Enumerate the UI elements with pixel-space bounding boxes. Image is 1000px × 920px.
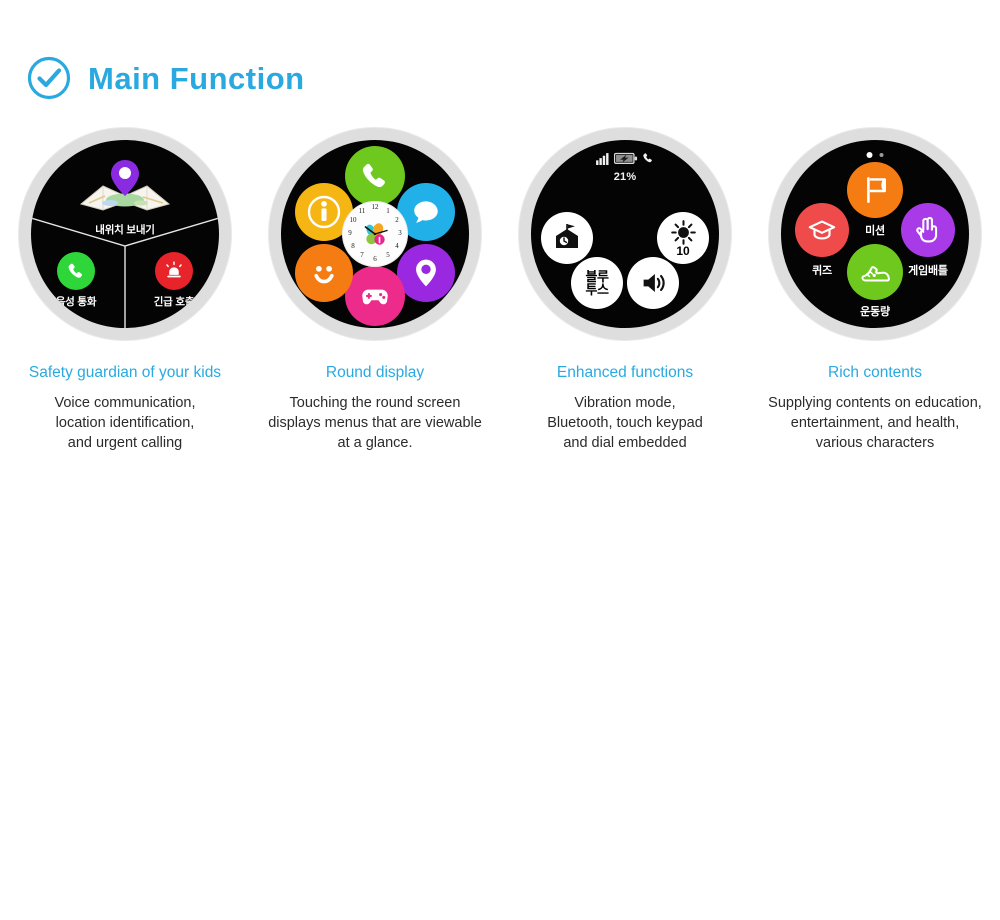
feature-card-enhanced: 21% [500, 128, 750, 453]
watch-enhanced: 21% [519, 128, 731, 340]
caption-body-safety: Voice communication, location identifica… [3, 393, 247, 453]
clock-number-12: 12 [370, 204, 380, 211]
page-title: Main Function [88, 63, 305, 94]
content-label-exercise: 운동량 [860, 303, 890, 319]
toggle-school-mode[interactable] [541, 212, 593, 264]
clock-number-6: 6 [370, 256, 380, 263]
page-indicator[interactable] [867, 152, 884, 158]
signal-bars-icon [596, 152, 611, 170]
toggle-brightness[interactable]: 10 [657, 212, 709, 264]
caption-title-rich-contents: Rich contents [828, 364, 922, 383]
caption-title-enhanced: Enhanced functions [557, 364, 693, 383]
content-label-quiz: 퀴즈 [812, 262, 832, 278]
status-icons-row [596, 156, 655, 170]
clock-number-2: 2 [392, 217, 402, 224]
app-icon-voice-call[interactable] [57, 252, 95, 290]
watch-face-segmented: 내위치 보내기 음성 통화 [31, 140, 219, 328]
app-icon-mission[interactable] [847, 162, 903, 218]
caption-body-enhanced: Vibration mode, Bluetooth, touch keypad … [503, 393, 747, 453]
feature-card-rich-contents: 미션 퀴즈 [750, 128, 1000, 453]
watch-face-content-ring: 미션 퀴즈 [781, 140, 969, 328]
clock-number-7: 7 [357, 252, 367, 259]
watch-face-icon-ring: 12 1 2 3 4 5 6 7 8 9 10 11 [281, 140, 469, 328]
app-icon-exercise[interactable] [847, 244, 903, 300]
caption-title-round-display: Round display [326, 364, 424, 383]
bluetooth-label: 블루 투스 [585, 270, 608, 297]
segment-label-emergency: 긴급 호출 [154, 294, 195, 309]
brightness-level: 10 [676, 244, 689, 258]
app-icon-games[interactable] [345, 266, 405, 326]
app-icon-quiz[interactable] [795, 203, 849, 257]
segment-label-voice-call: 음성 통화 [56, 294, 97, 309]
phone-handset-icon [641, 151, 655, 170]
page-dot-active [867, 152, 873, 158]
feature-card-row: 내위치 보내기 음성 통화 [0, 128, 1000, 453]
app-icon-phone[interactable] [345, 146, 405, 206]
clock-number-4: 4 [392, 243, 402, 250]
watch-safety: 내위치 보내기 음성 통화 [19, 128, 231, 340]
feature-card-round-display: 12 1 2 3 4 5 6 7 8 9 10 11 Round d [250, 128, 500, 453]
clock-number-5: 5 [383, 252, 393, 259]
check-circle-icon [26, 55, 72, 101]
page-header: Main Function [26, 55, 305, 101]
app-icon-emergency-call[interactable] [155, 252, 193, 290]
toggle-volume[interactable] [627, 257, 679, 309]
clock-face: 12 1 2 3 4 5 6 7 8 9 10 11 [342, 201, 408, 267]
content-label-mission: 미션 [865, 222, 885, 238]
feature-card-safety: 내위치 보내기 음성 통화 [0, 128, 250, 453]
clock-number-1: 1 [383, 208, 393, 215]
watch-face-settings: 21% [531, 140, 719, 328]
caption-body-round-display: Touching the round screen displays menus… [253, 393, 497, 453]
page-dot-inactive [880, 153, 884, 157]
clock-number-11: 11 [357, 208, 367, 215]
caption-title-safety: Safety guardian of your kids [29, 364, 221, 383]
content-label-game-battle: 게임배틀 [908, 262, 948, 278]
toggle-bluetooth[interactable]: 블루 투스 [571, 257, 623, 309]
battery-percentage: 21% [614, 171, 637, 183]
clock-number-3: 3 [395, 230, 405, 237]
segment-label-location: 내위치 보내기 [95, 222, 154, 237]
status-bar: 21% [531, 156, 719, 183]
map-graphic [77, 156, 173, 218]
battery-charging-icon [614, 152, 638, 170]
clock-number-10: 10 [348, 217, 358, 224]
clock-number-8: 8 [348, 243, 358, 250]
main-function-page: Main Function [0, 0, 1000, 920]
clock-number-9: 9 [345, 230, 355, 237]
caption-body-rich-contents: Supplying contents on education, enterta… [753, 393, 997, 453]
watch-round-display: 12 1 2 3 4 5 6 7 8 9 10 11 [269, 128, 481, 340]
app-icon-game-battle[interactable] [901, 203, 955, 257]
watch-rich-contents: 미션 퀴즈 [769, 128, 981, 340]
